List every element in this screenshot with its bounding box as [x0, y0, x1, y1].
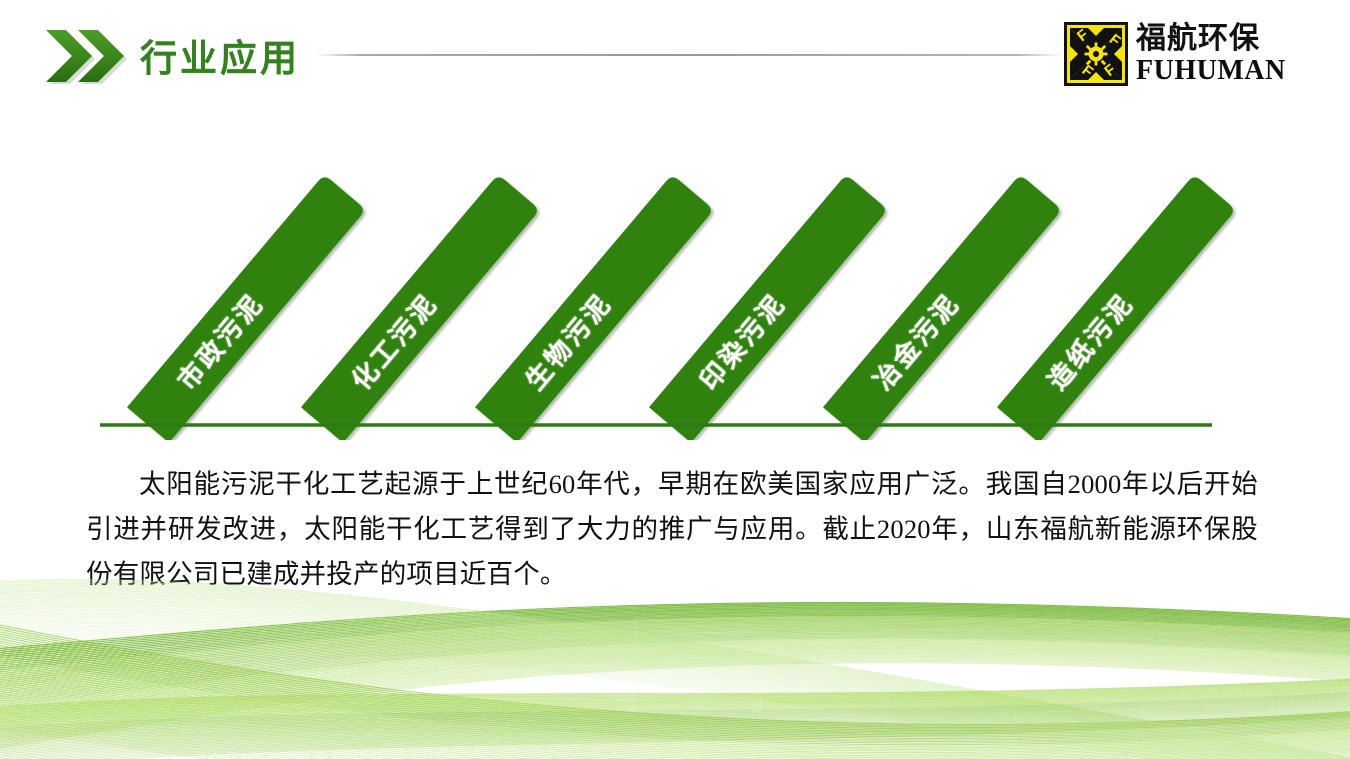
logo-name-en: FUHUMAN — [1136, 56, 1286, 86]
bars-svg — [0, 150, 1350, 440]
bars-group — [127, 177, 1233, 440]
header-divider-line — [316, 54, 1062, 56]
company-logo: F F F F — [1064, 22, 1270, 88]
double-chevron-right-icon — [44, 28, 132, 84]
slide-canvas: 行业应用 F F F F — [0, 0, 1350, 759]
industry-application-bar-chart: 市政污泥化工污泥生物污泥印染污泥冶金污泥造纸污泥 — [0, 150, 1350, 440]
wave-svg — [0, 559, 1350, 759]
logo-name-cn: 福航环保 — [1136, 22, 1260, 56]
page-title: 行业应用 — [140, 36, 300, 84]
pinwheel-four-f-logo-mark-icon: F F F F — [1064, 22, 1128, 86]
slide-header: 行业应用 F F F F — [0, 0, 1350, 110]
bottom-wave-decoration — [0, 559, 1350, 759]
